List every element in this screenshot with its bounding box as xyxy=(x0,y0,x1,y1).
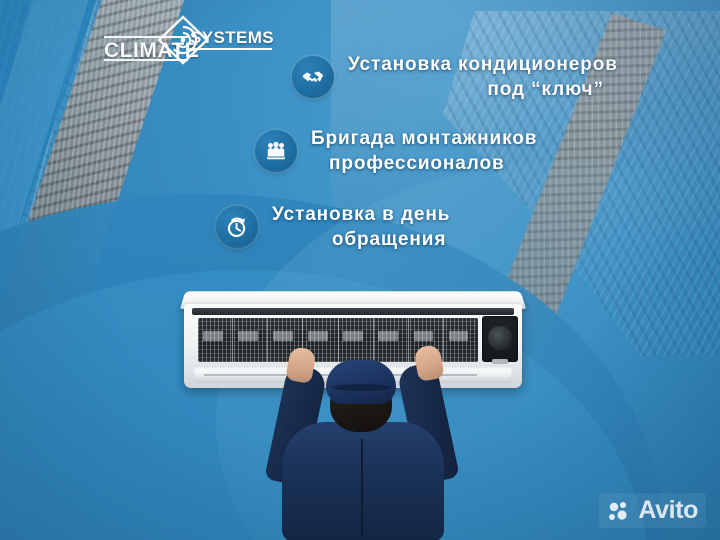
feature-item-same-day-installation: Установка в день обращения xyxy=(216,202,450,252)
technician-uniform xyxy=(282,422,444,540)
feature-line-2: под “ключ” xyxy=(348,77,618,102)
diamond-spiral-icon xyxy=(154,14,212,66)
handshake-icon xyxy=(292,56,334,98)
feature-item-professional-crew: Бригада монтажников профессионалов xyxy=(255,126,537,176)
ac-indicator-panel xyxy=(492,359,508,364)
ac-top-slot xyxy=(192,308,514,315)
feature-item-turnkey-installation: Установка кондиционеров под “ключ” xyxy=(292,52,618,102)
feature-line-2: обращения xyxy=(272,227,450,252)
feature-text: Бригада монтажников профессионалов xyxy=(311,126,537,176)
technician-cap xyxy=(326,360,396,404)
avito-watermark: Avito xyxy=(599,493,706,528)
feature-line-2: профессионалов xyxy=(311,151,537,176)
feature-line-1: Бригада монтажников xyxy=(311,126,537,151)
clock-fast-icon xyxy=(216,206,258,248)
avito-dots-icon xyxy=(607,499,631,523)
advertisement-banner: CLIMATE SYSTEMS Установка кондиционеров … xyxy=(0,0,720,540)
technician-right-hand xyxy=(413,344,445,382)
brand-logo: CLIMATE SYSTEMS xyxy=(104,14,274,66)
avito-wordmark: Avito xyxy=(638,498,698,523)
team-people-icon xyxy=(255,130,297,172)
feature-line-1: Установка кондиционеров xyxy=(348,52,618,77)
feature-line-1: Установка в день xyxy=(272,202,450,227)
ac-filter-cell xyxy=(198,318,233,362)
technician-figure xyxy=(230,330,490,540)
feature-text: Установка в день обращения xyxy=(272,202,450,252)
feature-text: Установка кондиционеров под “ключ” xyxy=(348,52,618,102)
